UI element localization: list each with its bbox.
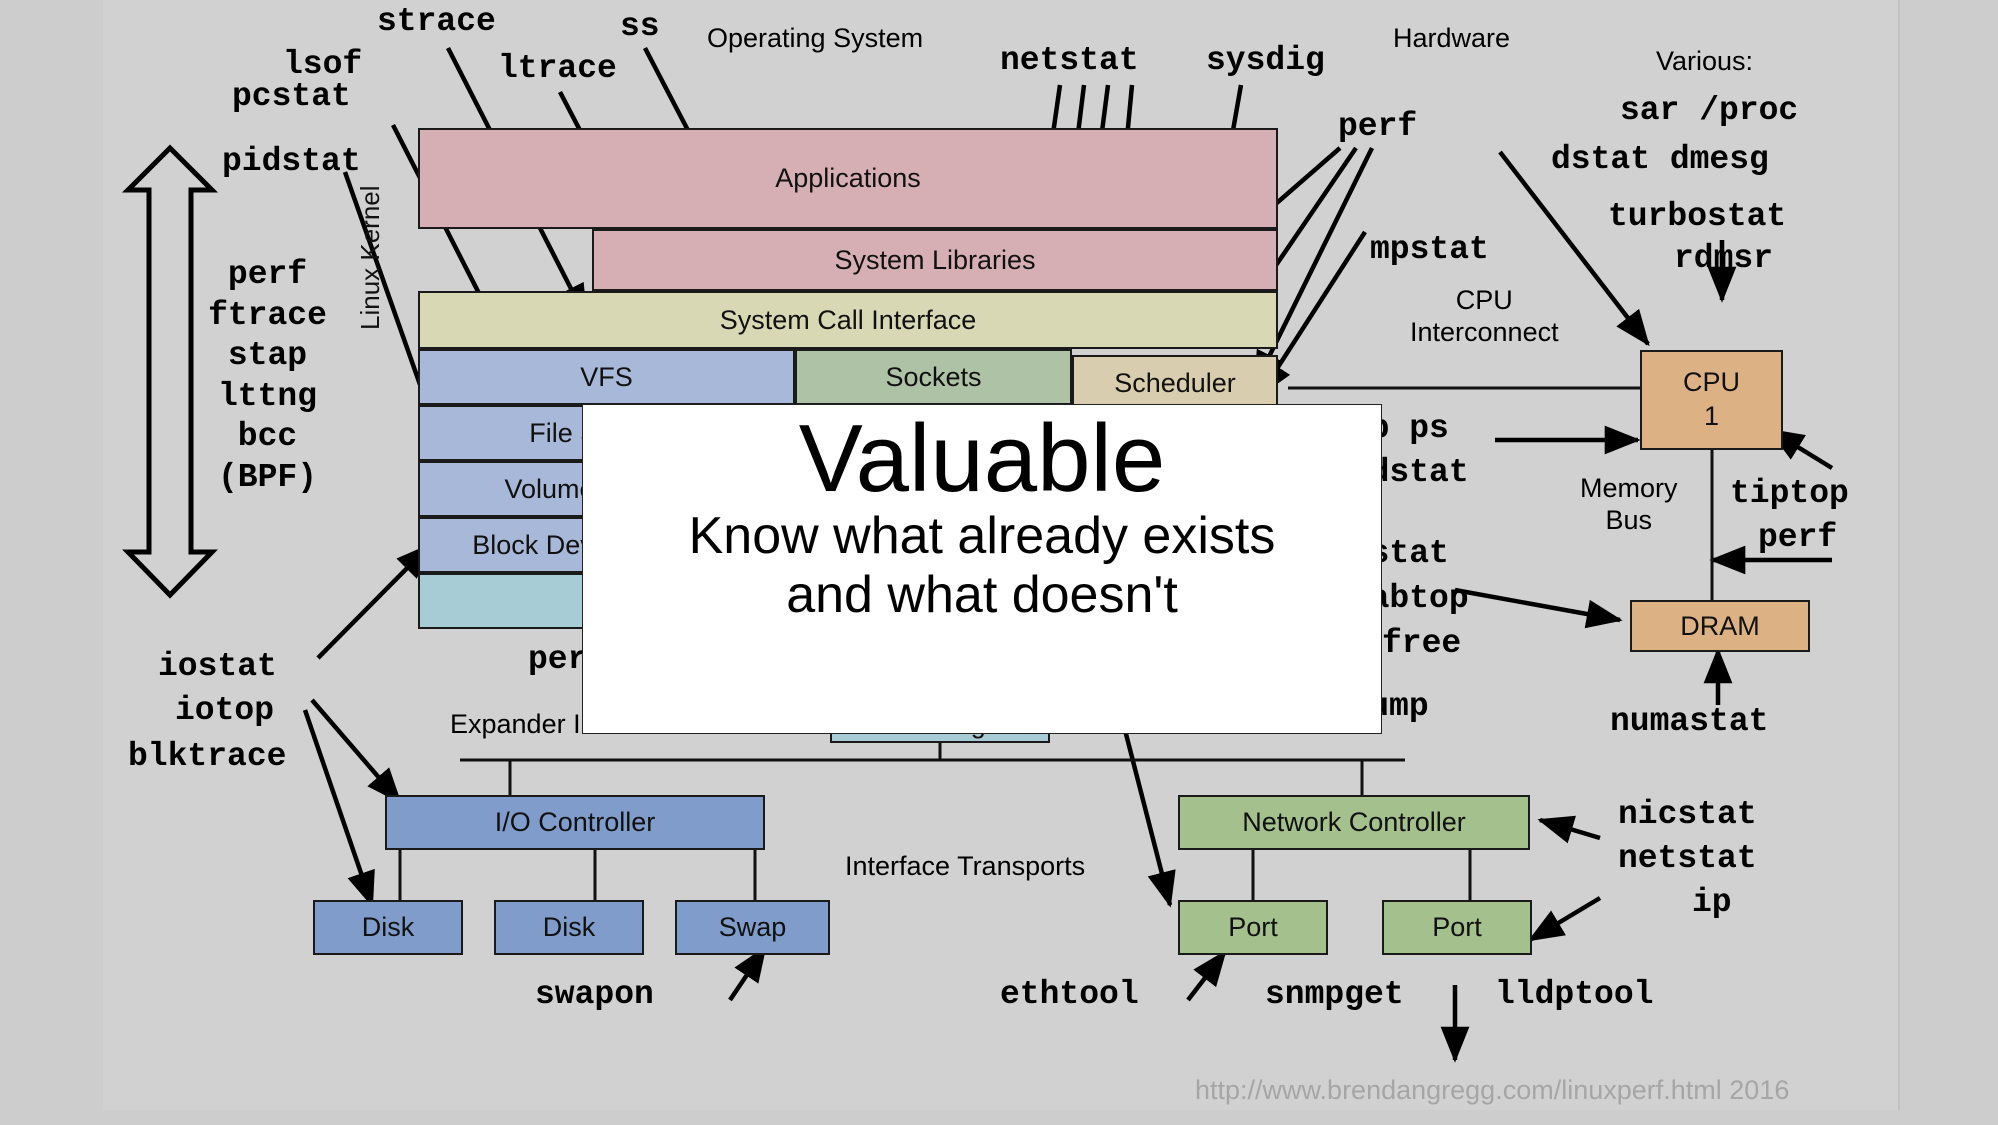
- box-scheduler-label: Scheduler: [1114, 368, 1236, 399]
- callout-title: Valuable: [799, 411, 1166, 507]
- box-swap: Swap: [675, 900, 830, 955]
- tool-lldptool: lldptool: [1495, 978, 1653, 1013]
- box-disk-2: Disk: [494, 900, 644, 955]
- box-vfs: VFS: [418, 349, 795, 405]
- box-network-controller-label: Network Controller: [1242, 807, 1466, 838]
- tool-numastat: numastat: [1610, 705, 1768, 740]
- label-various: Various:: [1656, 47, 1753, 76]
- box-swap-label: Swap: [719, 912, 787, 943]
- box-cpu-1-label: CPU 1: [1683, 366, 1740, 434]
- tool-rdmsr: rdmsr: [1674, 242, 1773, 277]
- tool-dstat-dmesg: dstat dmesg: [1551, 143, 1769, 178]
- box-dram-label: DRAM: [1680, 611, 1760, 642]
- label-operating-system: Operating System: [707, 24, 923, 53]
- box-cpu-1: CPU 1: [1640, 350, 1783, 450]
- label-interface-transports: Interface Transports: [845, 852, 1085, 881]
- box-system-call-interface: System Call Interface: [418, 291, 1278, 349]
- tool-perf-top: perf: [1338, 110, 1417, 145]
- tool-nicstat: nicstat: [1618, 798, 1757, 833]
- tool-pcstat: pcstat: [232, 80, 351, 115]
- tool-sar-proc: sar /proc: [1620, 94, 1798, 129]
- box-vfs-label: VFS: [580, 362, 633, 393]
- callout-line-2: and what doesn't: [786, 566, 1178, 625]
- tool-blktrace: blktrace: [128, 740, 286, 775]
- tool-turbostat: turbostat: [1608, 200, 1786, 235]
- box-port-2: Port: [1382, 900, 1532, 955]
- tool-ltrace: ltrace: [498, 52, 617, 87]
- box-port-1-label: Port: [1228, 912, 1278, 943]
- tool-strace: strace: [377, 5, 496, 40]
- box-disk-1: Disk: [313, 900, 463, 955]
- label-cpu-interconnect: CPU Interconnect: [1410, 285, 1559, 349]
- label-hardware: Hardware: [1393, 24, 1510, 53]
- tool-free: free: [1382, 627, 1461, 662]
- tool-swapon: swapon: [535, 978, 654, 1013]
- box-disk-1-label: Disk: [362, 912, 415, 943]
- box-io-controller-label: I/O Controller: [495, 807, 656, 838]
- tool-netstat-bottom: netstat: [1618, 842, 1757, 877]
- box-disk-2-label: Disk: [543, 912, 596, 943]
- label-memory-bus: Memory Bus: [1580, 473, 1678, 537]
- box-port-1: Port: [1178, 900, 1328, 955]
- tool-netstat-top: netstat: [1000, 44, 1139, 79]
- tool-left-tracing-stack: perf ftrace stap lttng bcc (BPF): [180, 255, 355, 498]
- tool-ip: ip: [1692, 886, 1732, 921]
- linux-kernel-label: Linux Kernel: [355, 185, 386, 330]
- box-sockets: Sockets: [795, 349, 1072, 405]
- box-network-controller: Network Controller: [1178, 795, 1530, 850]
- box-system-call-interface-label: System Call Interface: [720, 305, 977, 336]
- tool-perf-cpu: perf: [1758, 521, 1837, 556]
- box-applications: Applications: [418, 128, 1278, 229]
- box-system-libraries-label: System Libraries: [834, 245, 1035, 276]
- tool-iostat: iostat: [158, 650, 277, 685]
- tool-ss: ss: [620, 10, 660, 45]
- box-io-controller: I/O Controller: [385, 795, 765, 850]
- box-sockets-label: Sockets: [885, 362, 981, 393]
- tool-mpstat: mpstat: [1370, 233, 1489, 268]
- box-system-libraries: System Libraries: [592, 229, 1278, 291]
- callout-overlay: Valuable Know what already exists and wh…: [582, 404, 1382, 734]
- tool-ethtool: ethtool: [1000, 978, 1139, 1013]
- tool-iotop: iotop: [175, 694, 274, 729]
- box-applications-label: Applications: [775, 163, 921, 194]
- tool-tiptop: tiptop: [1730, 477, 1849, 512]
- callout-line-1: Know what already exists: [689, 507, 1276, 566]
- box-port-2-label: Port: [1432, 912, 1482, 943]
- slide-canvas: Applications System Libraries System Cal…: [0, 0, 1998, 1125]
- tool-sysdig: sysdig: [1206, 44, 1325, 79]
- box-dram: DRAM: [1630, 600, 1810, 652]
- tool-pidstat-top: pidstat: [222, 145, 361, 180]
- footer-url: http://www.brendangregg.com/linuxperf.ht…: [1195, 1075, 1789, 1106]
- box-scheduler: Scheduler: [1072, 355, 1278, 411]
- tool-snmpget: snmpget: [1265, 978, 1404, 1013]
